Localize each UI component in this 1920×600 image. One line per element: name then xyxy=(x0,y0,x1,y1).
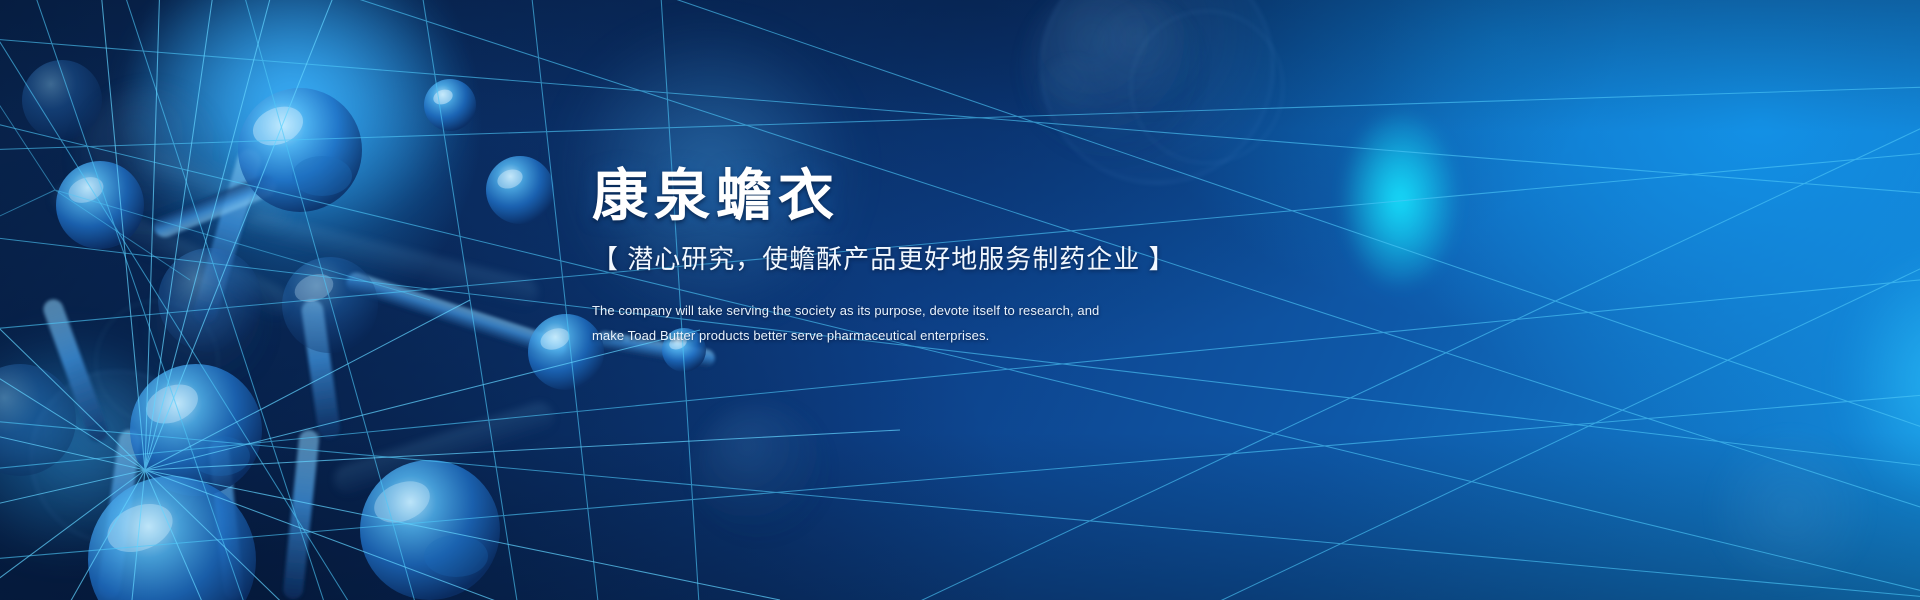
banner-subtitle: 【 潜心研究，使蟾酥产品更好地服务制药企业 】 xyxy=(592,243,1492,276)
description-line-1: The company will take serving the societ… xyxy=(592,298,1492,323)
description-line-2: make Toad Butter products better serve p… xyxy=(592,323,1492,348)
page-title: 康泉蟾衣 xyxy=(592,166,1492,225)
banner-content: 康泉蟾衣 【 潜心研究，使蟾酥产品更好地服务制药企业 】 The company… xyxy=(592,166,1492,349)
hero-banner: 康泉蟾衣 【 潜心研究，使蟾酥产品更好地服务制药企业 】 The company… xyxy=(0,0,1920,600)
banner-description: The company will take serving the societ… xyxy=(592,298,1492,349)
